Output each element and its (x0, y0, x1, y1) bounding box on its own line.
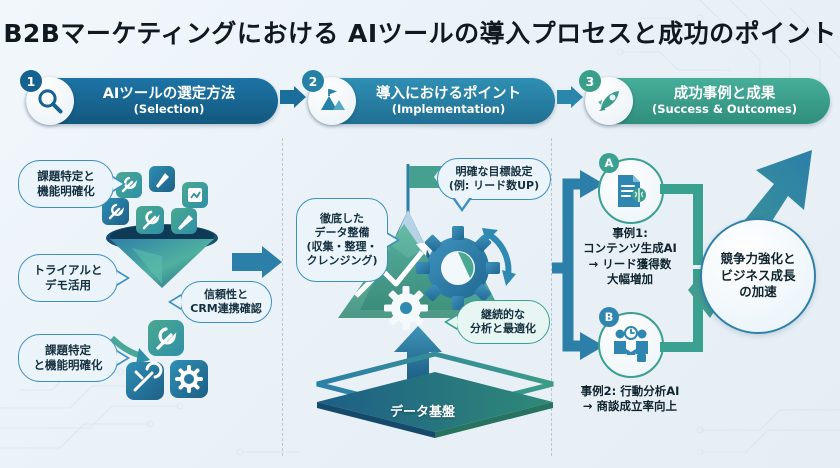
document-brain-icon (612, 172, 650, 210)
callout-text: 信頼性と CRM連携確認 (190, 288, 262, 316)
step-label-ja: AIツールの選定方法 (80, 87, 258, 103)
section-divider-1 (282, 138, 283, 456)
step-label-ja: 成功事例と成果 (639, 87, 810, 103)
step-label-ja: 導入におけるポイント (362, 87, 535, 103)
result-text: 競争力強化と ビジネス成長 の加速 (720, 251, 795, 301)
step-label-en: (Selection) (80, 103, 258, 115)
page-title: B2Bマーケティングにおける AIツールの導入プロセスと成功のポイント (0, 14, 840, 50)
callout-implementation-crm: 信頼性と CRM連携確認 (180, 281, 272, 323)
arrow-selection-to-implementation (232, 245, 284, 279)
infographic-canvas: B2Bマーケティングにおける AIツールの導入プロセスと成功のポイント AIツー… (0, 0, 840, 468)
case-b-text: 事例2: 行動分析AI → 商談成立率向上 (551, 384, 709, 415)
callout-selection-1: 課題特定と 機能明確化 (18, 160, 114, 208)
callout-selection-2: トライアルと デモ活用 (18, 254, 118, 302)
step-label-en: (Success & Outcomes) (639, 103, 810, 115)
process-steps-header: AIツールの選定方法 (Selection) 1 導入におけるポイント (Imp… (18, 74, 824, 130)
callout-text: 課題特定 と機能明確化 (34, 343, 103, 372)
callout-selection-3: 課題特定 と機能明確化 (18, 334, 118, 382)
callout-implementation-data: 徹底した データ整備 (収集・整理・ クレンジング) (296, 198, 388, 282)
callout-text: トライアルと デモ活用 (34, 263, 103, 292)
callout-implementation-optimize: 継続的な 分析と最適化 (456, 300, 550, 344)
data-platform-layers (310, 352, 560, 438)
callout-text: 明確な目標設定 (例: リード数UP) (449, 165, 539, 193)
platform-label: データ基盤 (390, 401, 455, 420)
callout-implementation-goal: 明確な目標設定 (例: リード数UP) (437, 158, 551, 200)
step-number-badge: 2 (302, 70, 324, 92)
handshake-clock-icon (611, 326, 651, 364)
selection-tool-icons-cluster (106, 320, 216, 420)
case-b-badge: B (599, 307, 619, 327)
callout-text: 徹底した データ整備 (収集・整理・ クレンジング) (306, 212, 377, 268)
callout-text: 継続的な 分析と最適化 (470, 308, 536, 336)
step-arrow-2-to-3 (557, 86, 583, 108)
result-circle: 競争力強化と ビジネス成長 の加速 (700, 218, 816, 334)
step-pill-implementation[interactable]: 導入におけるポイント (Implementation) 2 (308, 78, 555, 124)
step-pill-selection[interactable]: AIツールの選定方法 (Selection) 1 (26, 78, 278, 124)
case-a-badge: A (599, 153, 619, 173)
step-pill-outcomes[interactable]: 成功事例と成果 (Success & Outcomes) 3 (585, 78, 830, 124)
step-label-en: (Implementation) (362, 103, 535, 115)
callout-text: 課題特定と 機能明確化 (37, 169, 95, 198)
step-arrow-1-to-2 (280, 86, 306, 108)
step-number-badge: 1 (20, 70, 42, 92)
step-number-badge: 3 (579, 70, 601, 92)
